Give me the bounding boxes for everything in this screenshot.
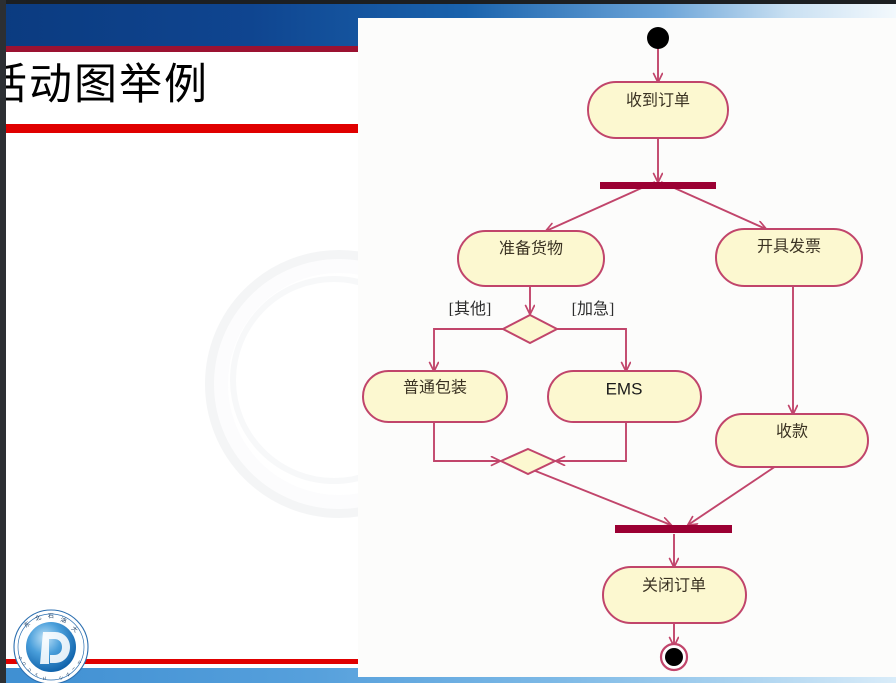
activity-label: EMS (606, 379, 643, 398)
activity-node-a7[interactable]: 关闭订单 (603, 567, 746, 623)
activity-node-a2[interactable]: 准备货物 (458, 231, 604, 286)
activity-diagram-canvas: 收到订单 准备货物 开具发票 [其他] [加急] (358, 18, 896, 677)
guard-label-other: [其他] (449, 300, 492, 318)
activity-node-a3[interactable]: 开具发票 (716, 229, 862, 286)
fork-bar (600, 182, 716, 189)
page-title: 活动图举例 (0, 58, 364, 114)
edge-fork-to-a3 (661, 182, 766, 229)
edge-a4-to-d2 (434, 422, 500, 461)
merge-node-d2[interactable] (501, 449, 555, 474)
title-red-rule (0, 124, 358, 133)
edge-d2-to-join (533, 470, 671, 525)
guard-label-urgent: [加急] (572, 300, 615, 318)
initial-node (647, 27, 669, 49)
decision-node-d1[interactable] (503, 315, 557, 343)
activity-node-a6[interactable]: 收款 (716, 414, 868, 467)
edge-fork-to-a2 (546, 182, 655, 231)
left-edge-strip (0, 0, 6, 683)
activity-label: 开具发票 (757, 238, 821, 256)
activity-node-a1[interactable]: 收到订单 (588, 82, 728, 138)
presentation-slide: 活动图举例 S O U T H U N I V 东 北 (0, 0, 896, 683)
activity-label: 关闭订单 (642, 577, 706, 595)
activity-label: 收款 (776, 423, 808, 441)
edge-a5-to-d2 (556, 422, 626, 461)
svg-text:石: 石 (48, 613, 54, 620)
join-bar (615, 525, 732, 533)
activity-label: 普通包装 (403, 379, 467, 397)
edge-a6-to-join (688, 466, 776, 525)
university-seal-logo: S O U T H U N I V 东 北 石 油 大 (12, 608, 90, 683)
edge-d1-to-a5 (555, 329, 626, 371)
edge-d1-to-a4 (434, 329, 505, 371)
activity-diagram-panel: 收到订单 准备货物 开具发票 [其他] [加急] (358, 18, 896, 677)
final-node (661, 644, 687, 670)
activity-label: 准备货物 (499, 240, 563, 258)
activity-node-a4[interactable]: 普通包装 (363, 371, 507, 422)
activity-label: 收到订单 (626, 92, 690, 110)
activity-node-a5[interactable]: EMS (548, 371, 701, 422)
header-top-edge (0, 0, 896, 4)
